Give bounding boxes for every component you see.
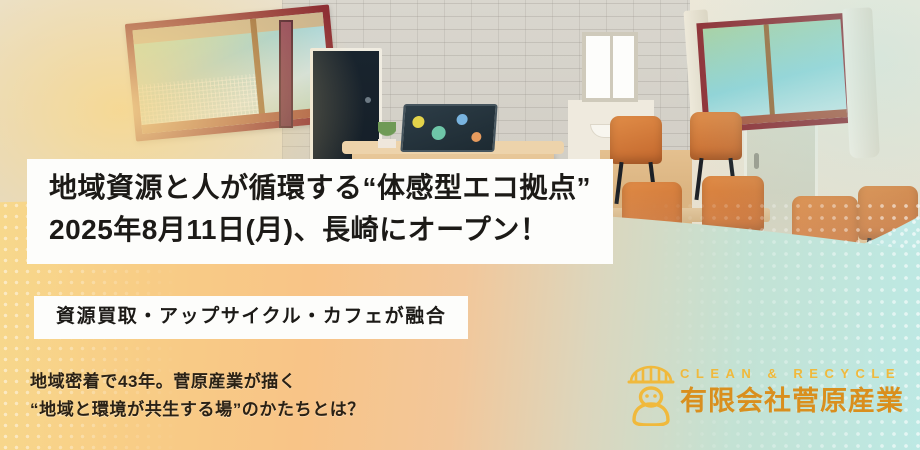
sugawara-figure-mark-icon bbox=[622, 364, 680, 426]
company-logo: CLEAN & RECYCLE 有限会社菅原産業 bbox=[622, 360, 902, 430]
headline-line-1: 地域資源と人が循環する“体感型エコ拠点” bbox=[49, 168, 591, 208]
logo-tagline: CLEAN & RECYCLE bbox=[680, 364, 904, 384]
promo-banner: 地域資源と人が循環する“体感型エコ拠点” 2025年8月11日(月)、長崎にオー… bbox=[0, 0, 920, 450]
logo-text-block: CLEAN & RECYCLE 有限会社菅原産業 bbox=[680, 364, 904, 418]
subheading-box: 資源買取・アップサイクル・カフェが融合 bbox=[34, 296, 468, 339]
subheading-text: 資源買取・アップサイクル・カフェが融合 bbox=[56, 303, 446, 330]
headline-box: 地域資源と人が循環する“体感型エコ拠点” 2025年8月11日(月)、長崎にオー… bbox=[27, 159, 613, 264]
lead-line-1: 地域密着で43年。菅原産業が描く bbox=[30, 368, 365, 396]
logo-company-name: 有限会社菅原産業 bbox=[680, 384, 904, 418]
lead-copy: 地域密着で43年。菅原産業が描く “地域と環境が共生する場”のかたちとは？ bbox=[30, 368, 365, 424]
headline-line-2: 2025年8月11日(月)、長崎にオープン！ bbox=[49, 208, 591, 252]
lead-line-2: “地域と環境が共生する場”のかたちとは？ bbox=[30, 396, 365, 424]
